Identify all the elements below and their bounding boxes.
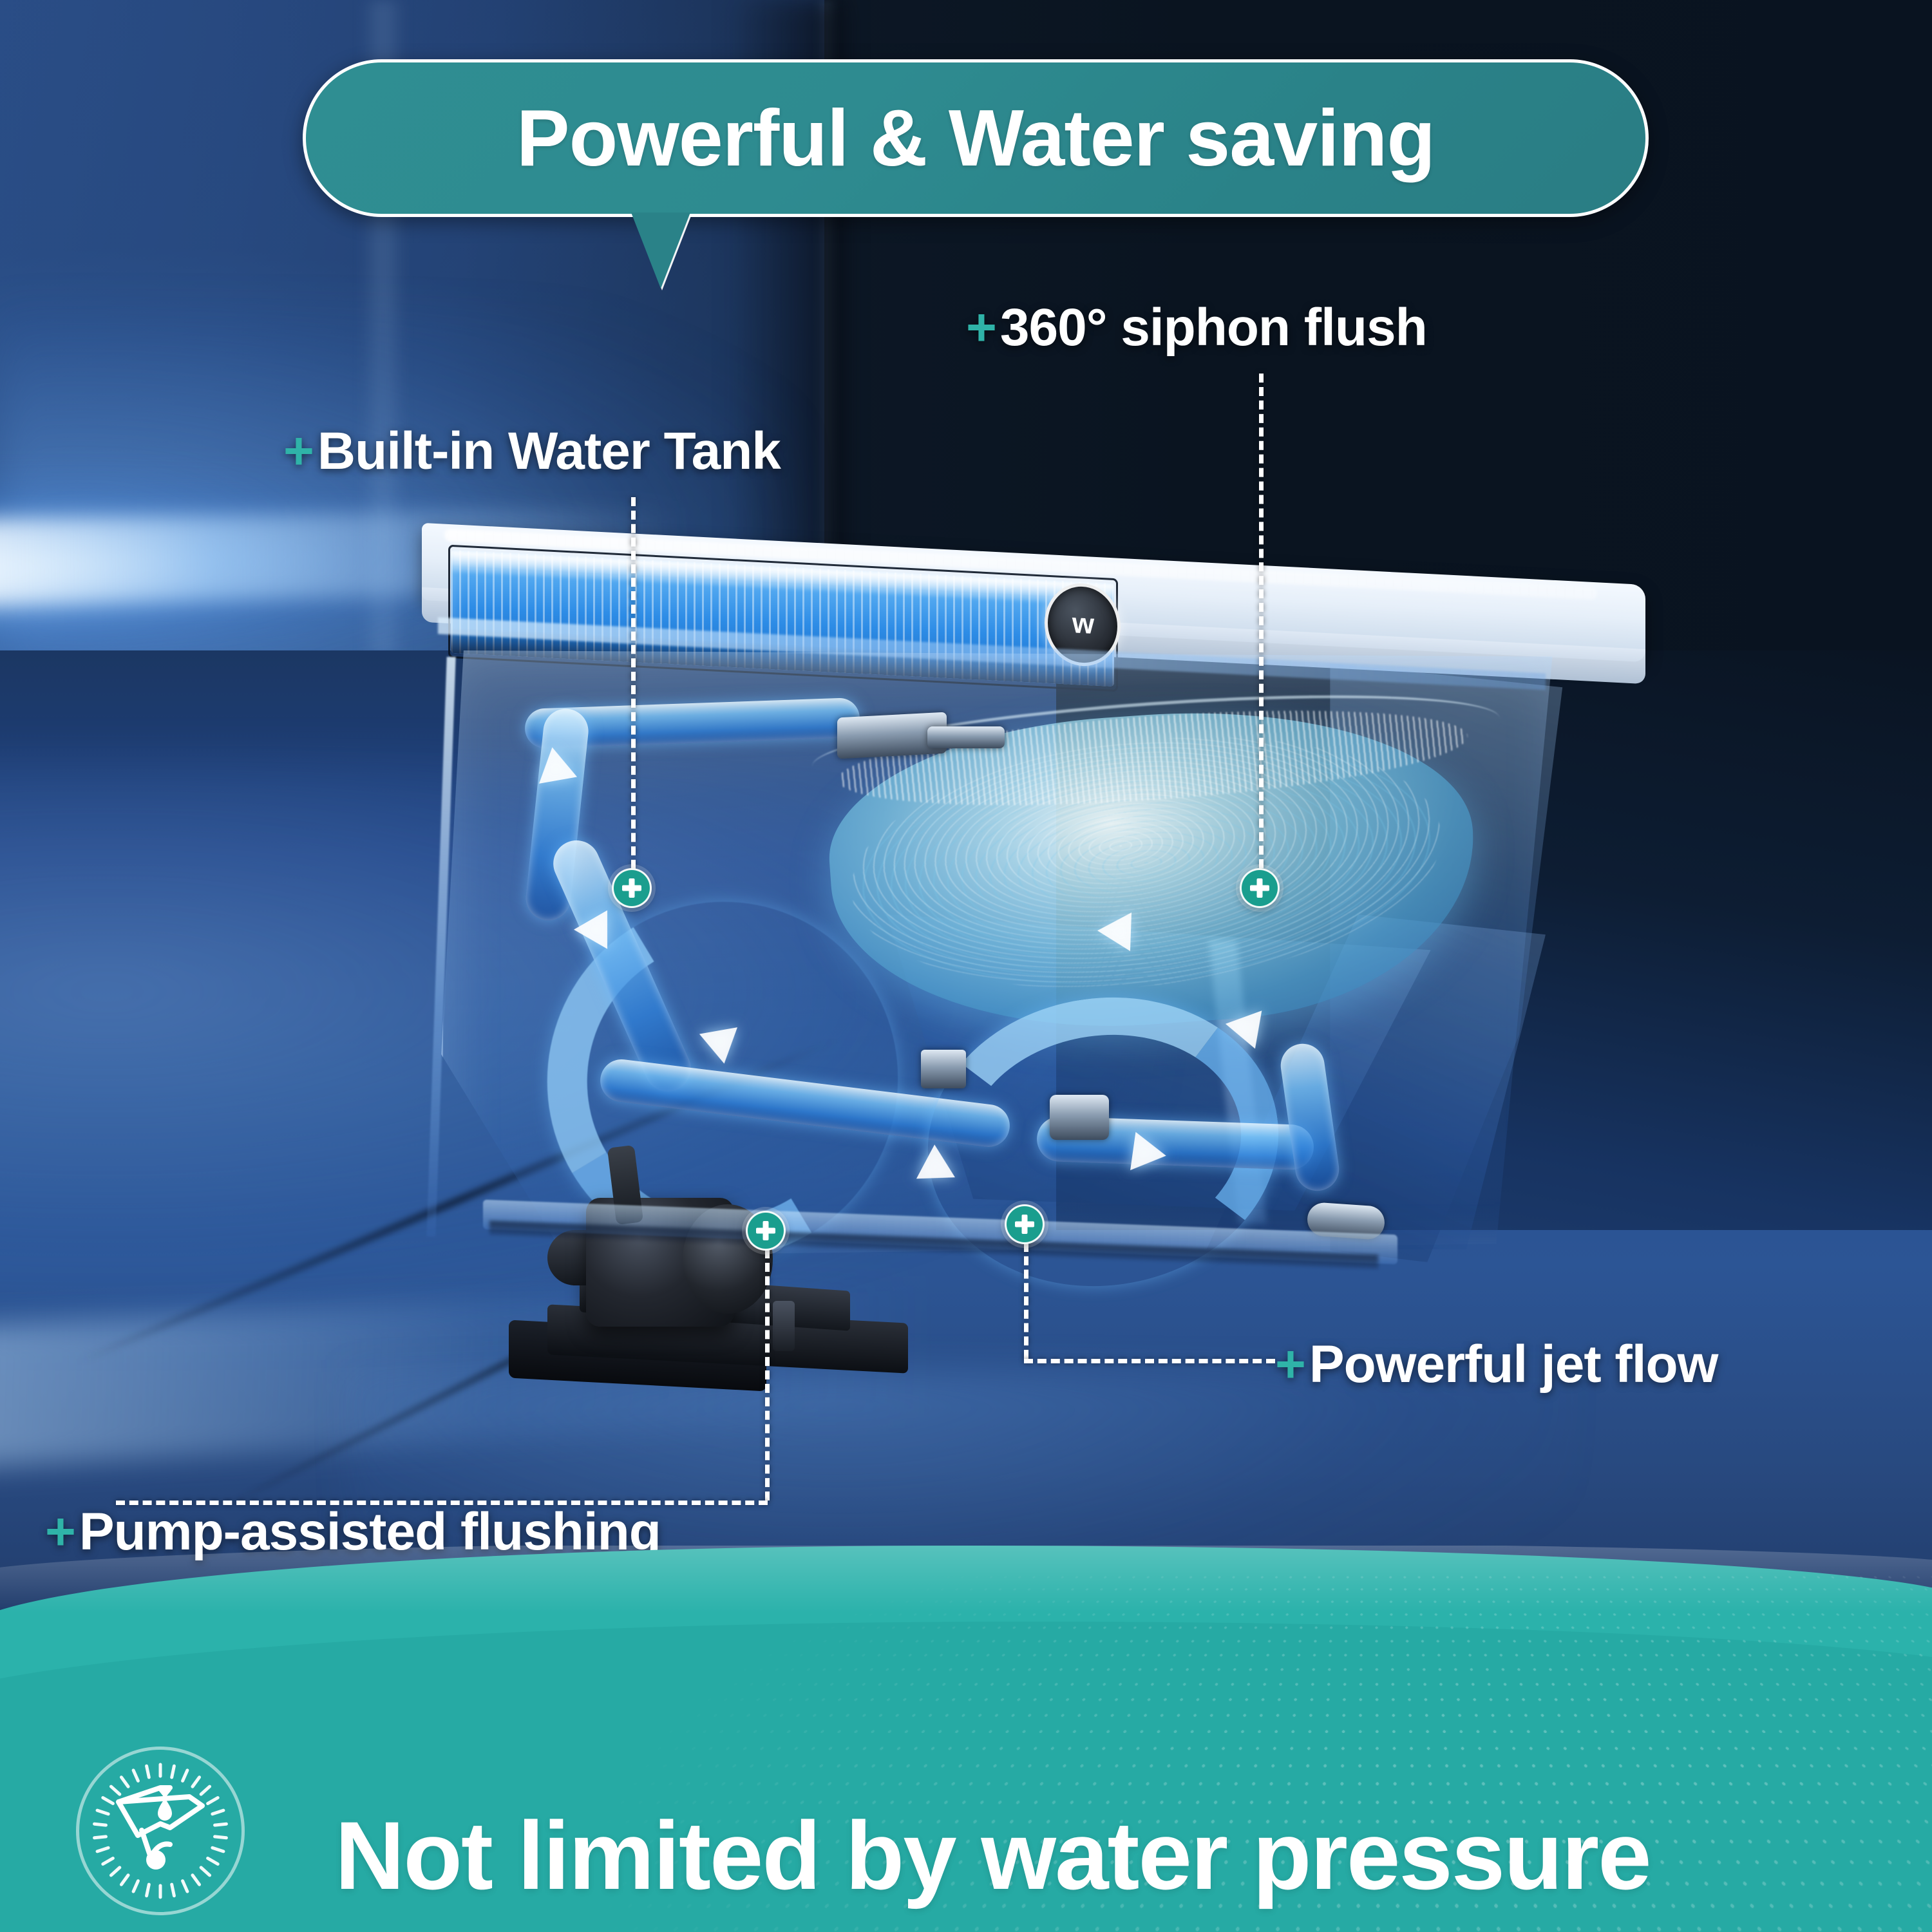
plus-sign-icon: + (283, 422, 314, 480)
callout-text-jet-flow: Powerful jet flow (1309, 1335, 1718, 1394)
metal-fitting-collar (927, 726, 1005, 748)
callout-text-water-tank: Built-in Water Tank (317, 422, 781, 480)
title-banner-tail (631, 213, 690, 289)
smart-toilet-cutaway: ᴡ (386, 554, 1649, 1423)
infographic-canvas: ᴡ (0, 0, 1932, 1932)
leader-line-pump-vertical (765, 1249, 770, 1501)
marker-siphon-flush[interactable] (1240, 868, 1280, 908)
flow-arrow-into-bowl (1097, 911, 1132, 951)
title-banner: Powerful & Water saving (303, 59, 1649, 217)
flow-arrow-down-2 (699, 1027, 743, 1067)
callout-label-jet-flow: +Powerful jet flow (1275, 1338, 1718, 1391)
callout-label-water-tank: +Built-in Water Tank (283, 425, 781, 478)
callout-text-siphon-flush: 360° siphon flush (1000, 298, 1427, 357)
marker-pump-assisted[interactable] (746, 1211, 786, 1251)
footer-headline: Not limited by water pressure (335, 1807, 1651, 1904)
callout-label-siphon-flush: +360° siphon flush (966, 301, 1427, 354)
marker-built-in-water-tank[interactable] (612, 868, 652, 908)
pump-bolt (773, 1301, 795, 1351)
gauge-outer-ring (76, 1747, 245, 1915)
flow-arrow-up (533, 744, 577, 784)
water-pressure-gauge-icon (76, 1747, 245, 1915)
marker-jet-flow[interactable] (1005, 1204, 1045, 1244)
plus-sign-icon: + (1275, 1335, 1305, 1394)
metal-fitting-mid (921, 1050, 966, 1088)
flow-arrow-right-2 (1130, 1132, 1169, 1175)
leader-line-jet-horizontal (1024, 1359, 1275, 1363)
leader-line-tank-vertical (631, 497, 636, 882)
leader-line-jet-vertical (1024, 1243, 1028, 1359)
brand-logo-glyph: ᴡ (1072, 609, 1093, 639)
title-banner-text: Powerful & Water saving (516, 99, 1435, 178)
metal-valve-block (1050, 1095, 1109, 1140)
leader-line-siphon-vertical (1259, 374, 1264, 895)
plus-sign-icon: + (966, 298, 996, 357)
